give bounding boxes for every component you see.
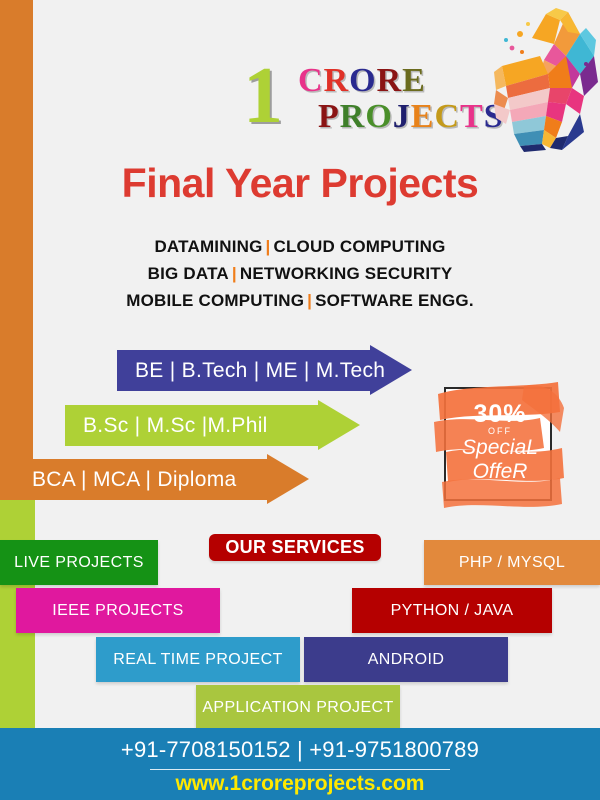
logo-letter-4: E: [411, 98, 435, 135]
arrow-engineering: BE | B.Tech | ME | M.Tech: [117, 350, 412, 391]
arrow-science: B.Sc | M.Sc |M.Phil: [65, 405, 360, 446]
subject-name: BIG DATA: [148, 264, 229, 283]
subject-line: BIG DATA|NETWORKING SECURITY: [0, 260, 600, 287]
service-php-mysql[interactable]: PHP / MYSQL: [424, 540, 600, 585]
service-real-time-project[interactable]: REAL TIME PROJECT: [96, 637, 300, 682]
arrow-label: BE | B.Tech | ME | M.Tech: [117, 359, 385, 383]
subject-line: MOBILE COMPUTING|SOFTWARE ENGG.: [0, 287, 600, 314]
thumbs-up-icon: [476, 4, 598, 152]
page-title: Final Year Projects: [0, 160, 600, 207]
subject-name: MOBILE COMPUTING: [126, 291, 304, 310]
offer-percent: 30%: [432, 400, 568, 429]
arrow-label: BCA | MCA | Diploma: [14, 468, 237, 492]
logo-numeral: 1: [243, 56, 283, 136]
subject-separator: |: [304, 291, 315, 310]
logo-letter-2: O: [365, 98, 392, 135]
logo-letter-0: C: [298, 62, 324, 99]
logo-letter-5: C: [434, 98, 460, 135]
footer-divider: [150, 769, 450, 770]
logo-letter-4: E: [402, 62, 426, 99]
arrow-computer-applications: BCA | MCA | Diploma: [14, 459, 309, 500]
service-python-java[interactable]: PYTHON / JAVA: [352, 588, 552, 633]
subject-name: SOFTWARE ENGG.: [315, 291, 474, 310]
poster: 1 CRORE PROJECTS: [0, 0, 600, 800]
offer-offer-label: OffeR: [432, 460, 568, 484]
subject-separator: |: [263, 237, 274, 256]
our-services-badge: OUR SERVICES: [209, 534, 381, 561]
subject-list: DATAMINING|CLOUD COMPUTINGBIG DATA|NETWO…: [0, 233, 600, 314]
subject-name: NETWORKING SECURITY: [240, 264, 453, 283]
logo-letter-3: J: [393, 98, 411, 135]
footer: +91-7708150152 | +91-9751800789 www.1cro…: [0, 728, 600, 800]
arrow-label: B.Sc | M.Sc |M.Phil: [65, 414, 268, 438]
subject-line: DATAMINING|CLOUD COMPUTING: [0, 233, 600, 260]
service-live-projects[interactable]: LIVE PROJECTS: [0, 540, 158, 585]
footer-phone: +91-7708150152 | +91-9751800789: [0, 737, 600, 763]
logo-word-crore: CRORE: [298, 64, 426, 98]
logo-letter-1: R: [340, 98, 366, 135]
special-offer-badge: 30% OFF SpeciaL OffeR: [432, 378, 568, 514]
arrow-head: [318, 400, 360, 450]
service-ieee-projects[interactable]: IEEE PROJECTS: [16, 588, 220, 633]
offer-off-label: OFF: [432, 426, 568, 436]
logo-letter-1: R: [324, 62, 350, 99]
offer-special-label: SpeciaL: [432, 436, 568, 460]
service-application-project[interactable]: APPLICATION PROJECT: [196, 685, 400, 730]
subject-separator: |: [229, 264, 240, 283]
offer-text: 30% OFF SpeciaL OffeR: [432, 378, 568, 514]
brand-logo: 1 CRORE PROJECTS: [243, 52, 483, 144]
service-android[interactable]: ANDROID: [304, 637, 508, 682]
logo-letter-0: P: [318, 98, 340, 135]
logo-letter-2: O: [349, 62, 376, 99]
arrow-head: [267, 454, 309, 504]
logo-letter-3: R: [377, 62, 403, 99]
subject-name: CLOUD COMPUTING: [274, 237, 446, 256]
subject-name: DATAMINING: [154, 237, 262, 256]
footer-website[interactable]: www.1croreprojects.com: [0, 772, 600, 796]
